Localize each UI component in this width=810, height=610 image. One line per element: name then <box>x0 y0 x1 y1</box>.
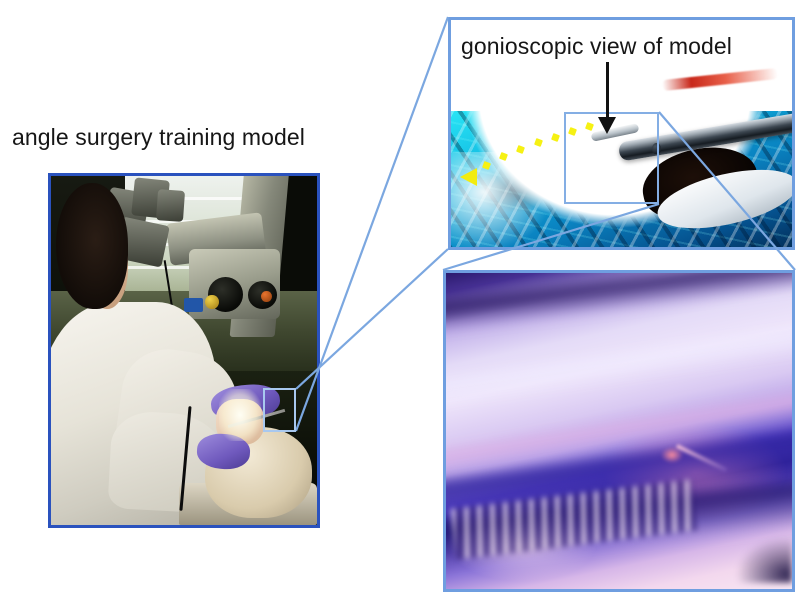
figure-canvas: angle surgery training model gonioscopic… <box>0 0 810 610</box>
callout-box-photo-region <box>263 388 296 432</box>
microscope-knob <box>205 295 218 309</box>
panel-training-model-photo <box>48 173 320 528</box>
illuminated-eye-region <box>219 389 262 441</box>
gonio-vignette <box>737 538 792 582</box>
aqueous-flow-arrow <box>460 168 477 186</box>
gonio-band <box>443 270 795 334</box>
down-arrow-head <box>598 117 616 134</box>
gonio-band <box>443 325 795 410</box>
microscope-eyepiece <box>156 189 185 222</box>
panel-gonioscopic-image <box>443 270 795 592</box>
equipment-blue-marker <box>184 298 203 312</box>
label-angle-surgery-training-model: angle surgery training model <box>12 124 305 151</box>
flow-marker <box>551 133 560 142</box>
gonio-highlight-spot <box>661 447 683 463</box>
gonioscopic-artwork <box>446 273 792 589</box>
down-arrow-shaft <box>606 62 609 120</box>
microscope-knob <box>261 291 272 302</box>
surgeon-hair <box>56 183 128 309</box>
illustration-highlight <box>448 152 553 250</box>
photo-artwork <box>51 176 317 525</box>
label-gonioscopic-view-of-model: gonioscopic view of model <box>461 33 732 60</box>
